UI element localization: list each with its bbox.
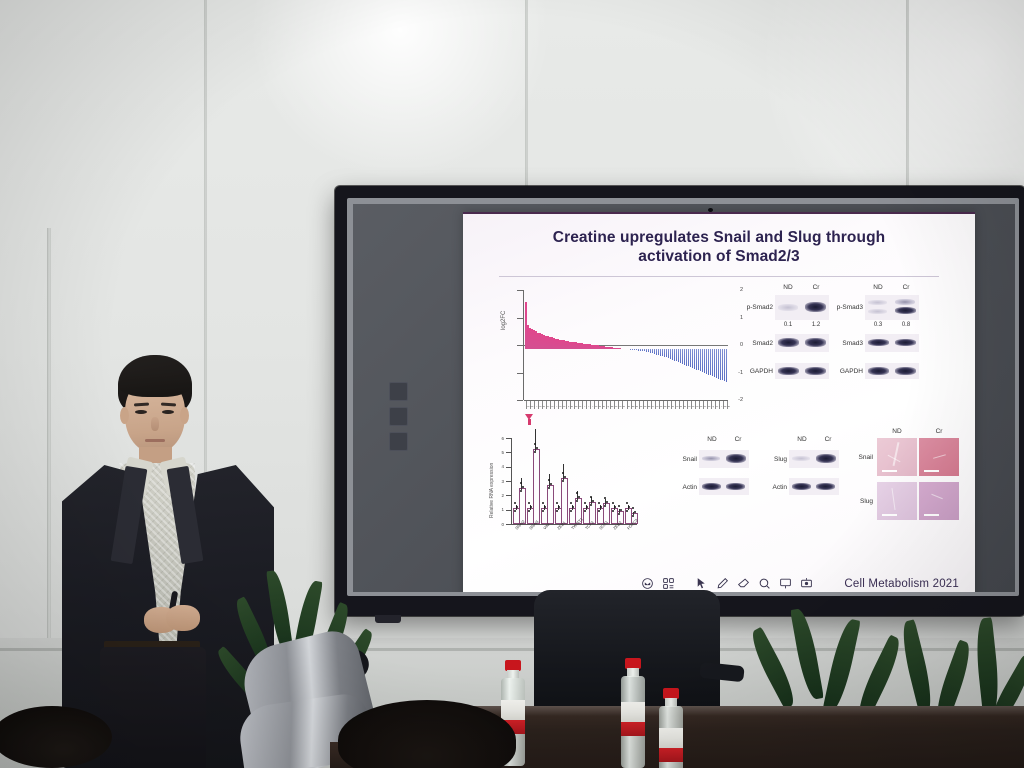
blot-smad3-smad3-box (865, 334, 919, 352)
qpcr-datapoint (534, 451, 536, 453)
qpcr-bar-group (512, 438, 638, 524)
blot-smad3: ND Cr p-Smad3 0.3 0.8 Smad3 (835, 284, 921, 398)
waterfall-bar-group (525, 290, 728, 400)
qpcr-bar (561, 478, 568, 524)
presenter-trousers (100, 647, 206, 768)
waterfall-ytick (517, 345, 523, 346)
blot-smad3-quant-nd: 0.3 (865, 322, 891, 328)
qpcr-datapoint (576, 500, 578, 502)
qpcr-datapoint (576, 492, 578, 494)
grid-menu-icon[interactable] (662, 577, 675, 590)
blot-snail-snail-box (699, 450, 749, 468)
eraser-icon[interactable] (737, 577, 750, 590)
ihc-tile-slug-cr (919, 482, 959, 520)
qpcr-datapoint (618, 513, 620, 515)
blot-smad2-psmad2-box (775, 295, 829, 320)
snai2-arrow-icon (525, 414, 534, 425)
blot-snail-actin-box (699, 478, 749, 495)
wall-trim-strip (47, 228, 51, 648)
blot-slug-row-slug: Slug (753, 456, 787, 463)
presenter-nose (151, 417, 159, 431)
qpcr-ytick (506, 438, 511, 439)
qpcr-datapoint (520, 490, 522, 492)
qpcr-datapoint (626, 502, 628, 504)
presenter-eye-left (135, 410, 147, 414)
ihc-row-snail: Snail (835, 454, 873, 461)
qpcr-datapoint (590, 504, 592, 506)
bezel-button-2[interactable] (389, 407, 408, 426)
title-divider (499, 276, 939, 277)
qpcr-datapoint (614, 506, 616, 508)
qpcr-datapoint (598, 510, 600, 512)
waterfall-ytick-label: 2 (731, 287, 743, 293)
qpcr-ytick-label: 6 (493, 436, 504, 441)
qpcr-datapoint (528, 502, 530, 504)
qpcr-datapoint (542, 502, 544, 504)
conference-room-scene: Creatine upregulates Snail and Slug thro… (0, 0, 1024, 768)
presenter-hair-front (119, 371, 191, 397)
blot-snail-lane-nd: ND (699, 436, 725, 443)
cursor-arrow-icon[interactable] (695, 577, 708, 590)
qpcr-ytick (506, 510, 511, 511)
qpcr-ytick (506, 481, 511, 482)
qpcr-ytick (506, 495, 511, 496)
blot-snail-row-actin: Actin (663, 484, 697, 491)
blot-snail: ND Cr Snail Actin (673, 436, 759, 508)
bottle-label (501, 700, 525, 720)
slide-title-line1: Creatine upregulates Snail and Slug thro… (475, 228, 963, 247)
qpcr-datapoint (570, 510, 572, 512)
qpcr-ytick-label: 2 (493, 493, 504, 498)
home-icon[interactable] (641, 577, 654, 590)
ihc-col-nd: ND (877, 428, 917, 435)
blot-slug-slug-box (789, 450, 839, 468)
slide-title: Creatine upregulates Snail and Slug thro… (475, 228, 963, 266)
bottle-label-red (659, 748, 683, 762)
presenter-eye-right (162, 410, 174, 414)
blot-snail-lane-cr: Cr (725, 436, 751, 443)
qpcr-datapoint (628, 506, 630, 508)
blot-snail-row-snail: Snail (663, 456, 697, 463)
blot-smad3-row-smad3: Smad3 (823, 340, 863, 347)
spotlight-icon[interactable] (800, 577, 813, 590)
ihc-tile-snail-nd (877, 438, 917, 476)
presenter-ear-left (120, 407, 129, 424)
blot-smad2-smad2-box (775, 334, 829, 352)
ihc-grid: ND Cr Snail Slug (851, 428, 959, 534)
display-inner-frame: Creatine upregulates Snail and Slug thro… (347, 198, 1019, 596)
blot-smad3-row-gapdh: GAPDH (821, 368, 863, 375)
bottle-label (659, 728, 683, 748)
pen-icon[interactable] (716, 577, 729, 590)
bezel-button-1[interactable] (389, 382, 408, 401)
qpcr-bar (547, 485, 554, 524)
blot-smad2-quant-nd: 0.1 (775, 322, 801, 328)
qpcr-datapoint (562, 472, 564, 474)
qpcr-datapoint (584, 510, 586, 512)
presentation-slide[interactable]: Creatine upregulates Snail and Slug thro… (463, 212, 975, 592)
qpcr-ytick-label: 1 (493, 507, 504, 512)
qpcr-datapoint (570, 502, 572, 504)
qpcr-datapoint (522, 486, 524, 488)
water-bottle[interactable] (658, 688, 684, 768)
blot-smad3-lane-nd: ND (865, 284, 891, 291)
waterfall-ytick (517, 400, 523, 401)
blot-smad2-row-gapdh: GAPDH (731, 368, 773, 375)
blot-slug-lane-nd: ND (789, 436, 815, 443)
qpcr-ytick (506, 524, 511, 525)
blot-smad2-lane-cr: Cr (803, 284, 829, 291)
qpcr-ytick-label: 5 (493, 450, 504, 455)
qpcr-datapoint (564, 476, 566, 478)
waterfall-ytick-label: -2 (731, 397, 743, 403)
waterfall-bar (726, 349, 728, 382)
blot-smad3-row-psmad3: p-Smad3 (823, 304, 863, 311)
qpcr-datapoint (584, 502, 586, 504)
qpcr-datapoint (618, 505, 620, 507)
qpcr-chart: Relative RNA expression 0123456 SNAI2SNA… (485, 432, 653, 562)
qpcr-datapoint (556, 502, 558, 504)
slide-citation: Cell Metabolism 2021 (844, 578, 959, 590)
waterfall-chart: log2FC 210-1-2 SNAI2VIMTWIST1SOX9FOXC2MM… (503, 286, 743, 418)
qpcr-datapoint (620, 509, 622, 511)
qpcr-datapoint (556, 510, 558, 512)
ihc-tile-snail-cr (919, 438, 959, 476)
waterfall-xlabel-group: SNAI2VIMTWIST1SOX9FOXC2MMP2SPARCTGFB1SMA… (525, 406, 735, 430)
qpcr-ytick (506, 467, 511, 468)
qpcr-ytick-label: 4 (493, 464, 504, 469)
qpcr-datapoint (578, 496, 580, 498)
wall-seam (525, 0, 528, 190)
waterfall-ytick (517, 373, 523, 374)
water-bottle[interactable] (620, 658, 646, 768)
waterfall-ytick (517, 290, 523, 291)
qpcr-ytick (506, 452, 511, 453)
qpcr-datapoint (550, 483, 552, 485)
qpcr-datapoint (514, 502, 516, 504)
wall-seam (906, 0, 909, 200)
magnifier-icon[interactable] (758, 577, 771, 590)
ihc-tile-slug-nd (877, 482, 917, 520)
waterfall-xtick-label: HOOK1 (727, 406, 735, 408)
ihc-col-cr: Cr (919, 428, 959, 435)
qpcr-datapoint (632, 507, 634, 509)
waterfall-ytick-label: 1 (731, 315, 743, 321)
blot-slug-lane-cr: Cr (815, 436, 841, 443)
qpcr-datapoint (598, 502, 600, 504)
qpcr-datapoint (548, 479, 550, 481)
presenter-mouth (145, 439, 165, 442)
bottle-label (621, 702, 645, 722)
qpcr-datapoint (612, 502, 614, 504)
bezel-button-3[interactable] (389, 432, 408, 451)
qpcr-datapoint (612, 510, 614, 512)
qpcr-ytick-label: 0 (493, 522, 504, 527)
qpcr-datapoint (514, 510, 516, 512)
presenter-hand-right (166, 605, 200, 631)
wall-display[interactable]: Creatine upregulates Snail and Slug thro… (335, 186, 1024, 616)
blot-smad2-quant-cr: 1.2 (803, 322, 829, 328)
qpcr-ytick-label: 3 (493, 479, 504, 484)
display-screen[interactable]: Creatine upregulates Snail and Slug thro… (353, 204, 1015, 592)
qpcr-datapoint (528, 510, 530, 512)
blot-smad3-gapdh-box (865, 363, 919, 379)
blot-smad2-row-psmad2: p-Smad2 (733, 304, 773, 311)
qpcr-datapoint (592, 500, 594, 502)
qpcr-datapoint (536, 447, 538, 449)
ihc-row-slug: Slug (835, 498, 873, 505)
qpcr-datapoint (590, 496, 592, 498)
blot-slug-actin-box (789, 478, 839, 495)
qpcr-datapoint (542, 510, 544, 512)
blot-smad3-quant-cr: 0.8 (893, 322, 919, 328)
qpcr-datapoint (562, 480, 564, 482)
blot-smad3-psmad3-box (865, 295, 919, 320)
qpcr-datapoint (520, 482, 522, 484)
waterfall-ytick (517, 318, 523, 319)
blot-slug-row-actin: Actin (753, 484, 787, 491)
blot-smad2-lane-nd: ND (775, 284, 801, 291)
qpcr-datapoint (534, 443, 536, 445)
qpcr-bar (533, 449, 540, 524)
table-highlight (466, 706, 1024, 716)
slide-title-line2: activation of Smad2/3 (475, 247, 963, 266)
qpcr-datapoint (626, 510, 628, 512)
presenter-ear-right (180, 407, 189, 424)
blot-smad2: ND Cr p-Smad2 0.1 1.2 Smad2 (745, 284, 831, 398)
blot-smad2-row-smad2: Smad2 (733, 340, 773, 347)
blot-smad3-lane-cr: Cr (893, 284, 919, 291)
blank-screen-icon[interactable] (779, 577, 792, 590)
waterfall-ylabel: log2FC (501, 311, 507, 330)
qpcr-datapoint (548, 487, 550, 489)
bottle-label-red (621, 722, 645, 736)
bezel-button-group[interactable] (389, 382, 407, 457)
